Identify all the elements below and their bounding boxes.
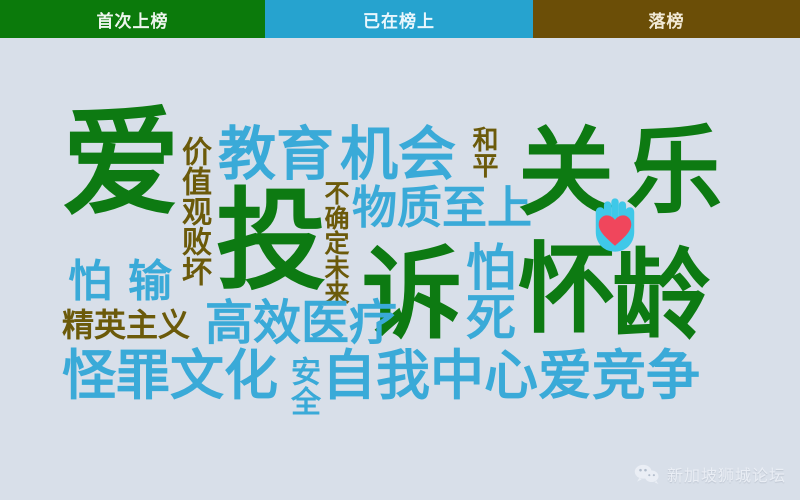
tab-off-list[interactable]: 落榜 — [533, 0, 800, 38]
cloud-word: 机会 — [340, 126, 456, 183]
cloud-word: 爱竞争 — [538, 350, 700, 403]
tab-bar: 首次上榜 已在榜上 落榜 — [0, 0, 800, 38]
cloud-word: 和平 — [470, 126, 496, 178]
cloud-word: 精英主义 — [62, 310, 190, 341]
cloud-word: 教育 — [218, 126, 334, 183]
cloud-word: 投 — [216, 188, 326, 296]
cloud-word: 输 — [128, 260, 172, 303]
cloud-word: 不确定未来 — [323, 180, 348, 305]
word-cloud: 爱价值观败坏教育机会和平关乐投不确定未来物质至上诉怕死怀龄怕输精英主义高效医疗怪… — [0, 38, 800, 500]
cloud-word: 高效医疗 — [205, 300, 397, 347]
wechat-logo-icon — [634, 464, 660, 484]
watermark-label: 新加坡狮城论坛 — [667, 462, 786, 486]
cloud-word: 怕死 — [462, 241, 512, 341]
cloud-word: 价值观败坏 — [178, 136, 208, 286]
cloud-word: 怕 — [68, 260, 112, 303]
hands-holding-heart-icon — [578, 188, 652, 262]
tab-label: 已在榜上 — [363, 7, 435, 32]
tab-label: 落榜 — [649, 7, 685, 32]
cloud-word: 龄 — [612, 248, 710, 344]
cloud-word: 怪罪文化 — [62, 350, 278, 403]
watermark: 新加坡狮城论坛 — [634, 462, 786, 486]
cloud-word: 安全 — [287, 356, 317, 416]
word-cloud-screen: 首次上榜 已在榜上 落榜 爱价值观败坏教育机会和平关乐投不确定未来物质至上诉怕死… — [0, 0, 800, 500]
tab-already-on-list[interactable]: 已在榜上 — [265, 0, 533, 38]
tab-label: 首次上榜 — [97, 7, 169, 32]
tab-first-time-on-list[interactable]: 首次上榜 — [0, 0, 265, 38]
cloud-word: 自我中心 — [322, 350, 538, 403]
cloud-word: 物质至上 — [352, 186, 532, 230]
cloud-word: 爱 — [62, 106, 180, 222]
